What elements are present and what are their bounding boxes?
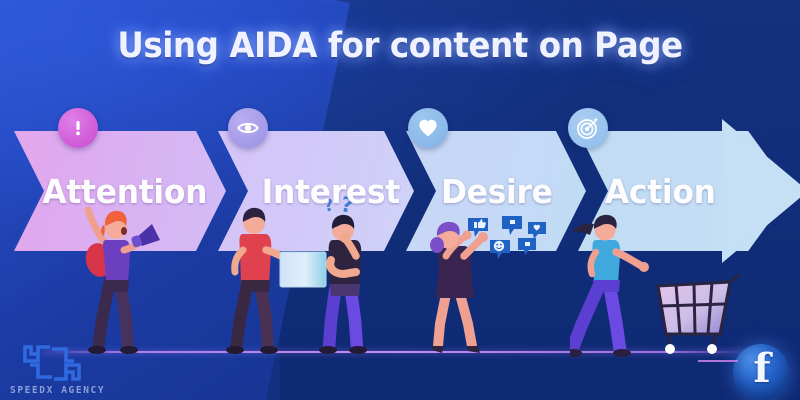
brand-name: SPEEDX AGENCY: [10, 385, 120, 396]
brand-logo[interactable]: SPEEDX AGENCY: [8, 341, 108, 397]
arrow-head: [722, 119, 800, 263]
facebook-circle: f: [733, 344, 789, 400]
stage-label-action: Action: [605, 172, 716, 211]
target-icon: [568, 108, 608, 148]
facebook-glyph: f: [753, 349, 770, 389]
speedx-logo-mark: [22, 341, 82, 390]
stage-label-interest: Interest: [262, 172, 400, 211]
facebook-icon[interactable]: f: [733, 344, 789, 400]
exclamation-icon: [58, 108, 98, 148]
eye-icon: [228, 108, 268, 148]
woman-with-social-reactions: [418, 216, 500, 356]
heart-icon: [408, 108, 448, 148]
woman-pushing-cart: [570, 212, 666, 360]
stage-label-desire: Desire: [441, 172, 553, 211]
infographic-canvas: Using AIDA for content on Page Attention…: [0, 0, 800, 400]
man-thinking: [312, 212, 378, 354]
woman-with-megaphone: [72, 196, 162, 354]
stage-label-attention: Attention: [42, 172, 207, 211]
connector-line: [698, 360, 738, 362]
page-title: Using AIDA for content on Page: [28, 26, 772, 66]
